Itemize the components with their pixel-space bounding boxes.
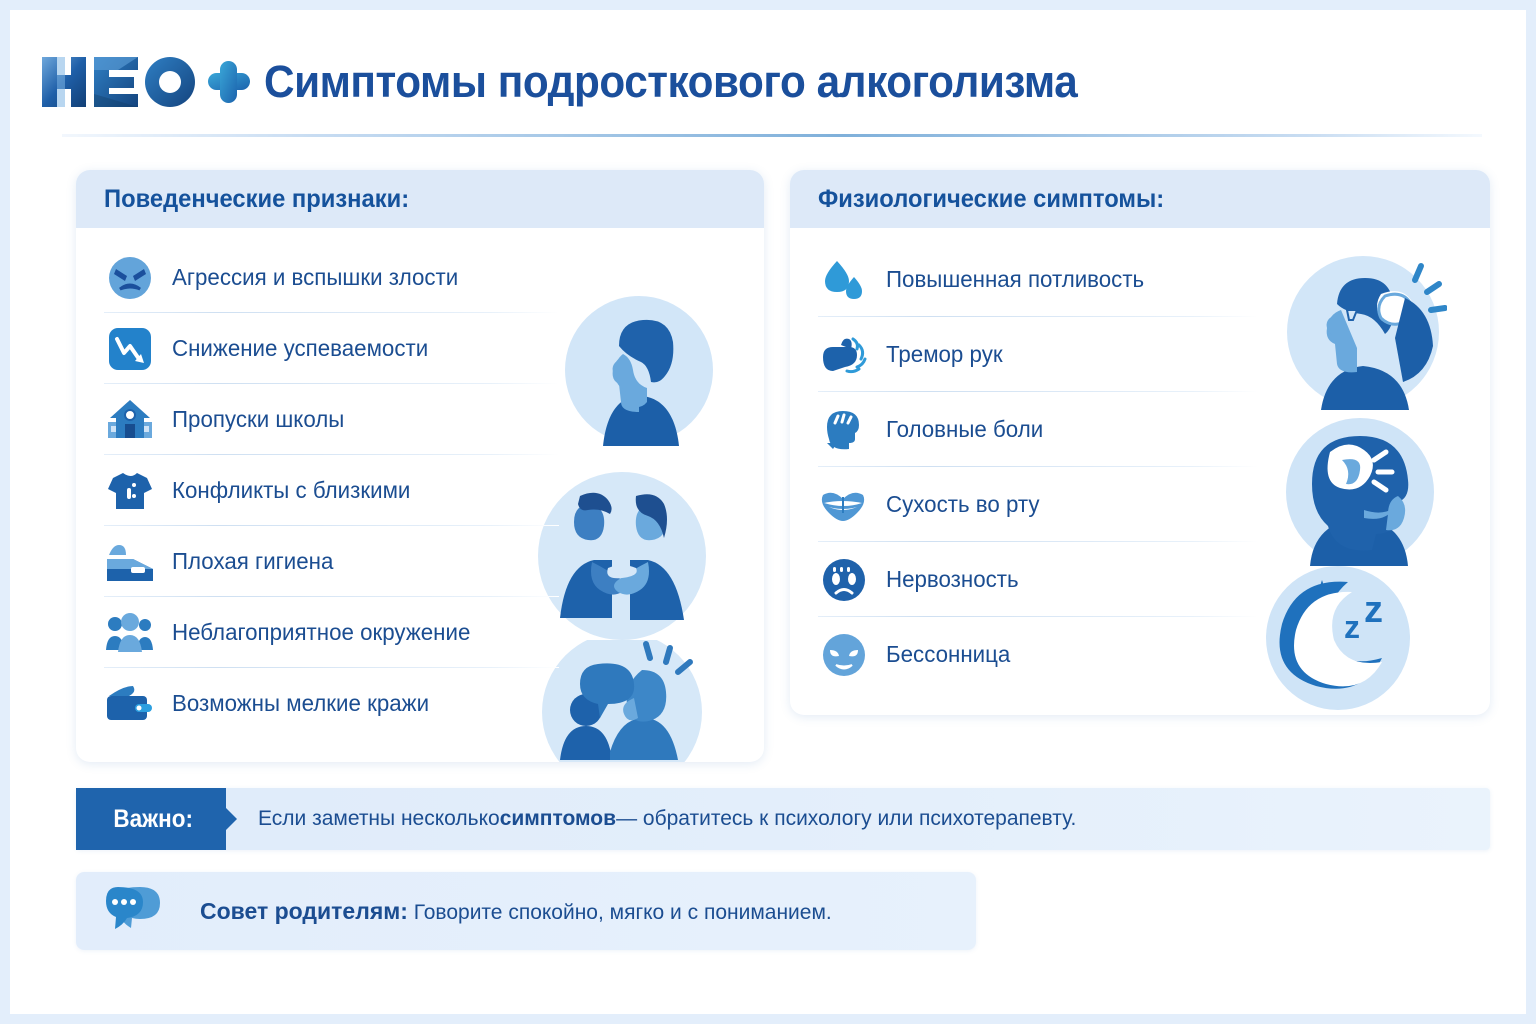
head-pain-icon: [818, 404, 870, 456]
neo-plus-logo: [40, 51, 250, 113]
list-item[interactable]: Бессонница: [790, 617, 1490, 692]
panel-behavioral-title: Поведенческие признаки:: [104, 185, 409, 214]
list-item-label: Конфликты с близкими: [172, 477, 410, 504]
list-item-label: Сухость во рту: [886, 491, 1040, 518]
dry-lips-icon: [818, 479, 870, 531]
list-item[interactable]: Повышенная потливость: [790, 242, 1490, 317]
chart-decline-icon: [104, 323, 156, 375]
infographic-page: Симптомы подросткового алкоголизма Повед…: [0, 0, 1536, 1024]
list-item[interactable]: Возможны мелкие кражи: [76, 668, 764, 739]
list-item[interactable]: Плохая гигиена: [76, 526, 764, 597]
panel-behavioral-body: Агрессия и вспышки злости Снижение успев…: [76, 228, 764, 762]
important-message: Если заметны несколько симптомов — обрат…: [226, 788, 1076, 850]
list-item[interactable]: Конфликты с близкими: [76, 455, 764, 526]
advice-body: Говорите спокойно, мягко и с пониманием.: [408, 901, 832, 924]
school-building-icon: [104, 394, 156, 446]
list-item-label: Головные боли: [886, 416, 1043, 443]
people-group-icon: [104, 607, 156, 659]
angry-face-icon: [104, 252, 156, 304]
important-message-bold: симптомов: [500, 807, 616, 831]
hygiene-bag-icon: [104, 536, 156, 588]
list-item-label: Бессонница: [886, 641, 1010, 668]
list-item-label: Плохая гигиена: [172, 548, 333, 575]
panel-physiological-header: Физиологические симптомы:: [790, 170, 1490, 228]
panel-physiological: Физиологические симптомы:: [790, 170, 1490, 715]
list-item-label: Снижение успеваемости: [172, 335, 428, 362]
list-item[interactable]: Нервозность: [790, 542, 1490, 617]
wallet-icon: [104, 678, 156, 730]
panel-physiological-body: z z Повышенная потливость: [790, 228, 1490, 715]
important-tag-label: Важно:: [113, 805, 193, 834]
tired-face-icon: [818, 629, 870, 681]
list-item[interactable]: Головные боли: [790, 392, 1490, 467]
advice-banner: Совет родителям: Говорите спокойно, мягк…: [76, 872, 976, 950]
panel-physiological-title: Физиологические симптомы:: [818, 185, 1164, 214]
nervous-face-icon: [818, 554, 870, 606]
list-item-label: Нервозность: [886, 566, 1019, 593]
important-banner: Важно: Если заметны несколько симптомов …: [76, 788, 1490, 850]
list-item-label: Пропуски школы: [172, 406, 344, 433]
important-message-before: Если заметны несколько: [258, 807, 500, 831]
list-item-label: Возможны мелкие кражи: [172, 690, 429, 717]
list-item-label: Неблагоприятное окружение: [172, 619, 470, 646]
water-drops-icon: [818, 254, 870, 306]
page-header: Симптомы подросткового алкоголизма: [40, 32, 1490, 132]
page-title: Симптомы подросткового алкоголизма: [264, 56, 1077, 108]
speech-bubbles-icon: [104, 883, 180, 939]
list-item-label: Тремор рук: [886, 341, 1003, 368]
infographic-card: Симптомы подросткового алкоголизма Повед…: [10, 10, 1526, 1014]
list-item-label: Повышенная потливость: [886, 266, 1144, 293]
list-item[interactable]: Неблагоприятное окружение: [76, 597, 764, 668]
list-item[interactable]: Тремор рук: [790, 317, 1490, 392]
advice-label: Совет родителям:: [200, 898, 408, 924]
list-item[interactable]: Снижение успеваемости: [76, 313, 764, 384]
shaking-hand-icon: [818, 329, 870, 381]
panel-behavioral: Поведенческие признаки:: [76, 170, 764, 762]
panel-behavioral-header: Поведенческие признаки:: [76, 170, 764, 228]
list-item[interactable]: Агрессия и вспышки злости: [76, 242, 764, 313]
list-item-label: Агрессия и вспышки злости: [172, 264, 458, 291]
advice-text: Совет родителям: Говорите спокойно, мягк…: [200, 898, 832, 925]
important-message-after: — обратитесь к психологу или психотерапе…: [616, 807, 1076, 831]
list-item[interactable]: Пропуски школы: [76, 384, 764, 455]
list-item[interactable]: Сухость во рту: [790, 467, 1490, 542]
tshirt-icon: [104, 465, 156, 517]
header-divider: [62, 134, 1482, 137]
important-tag: Важно:: [76, 788, 226, 850]
